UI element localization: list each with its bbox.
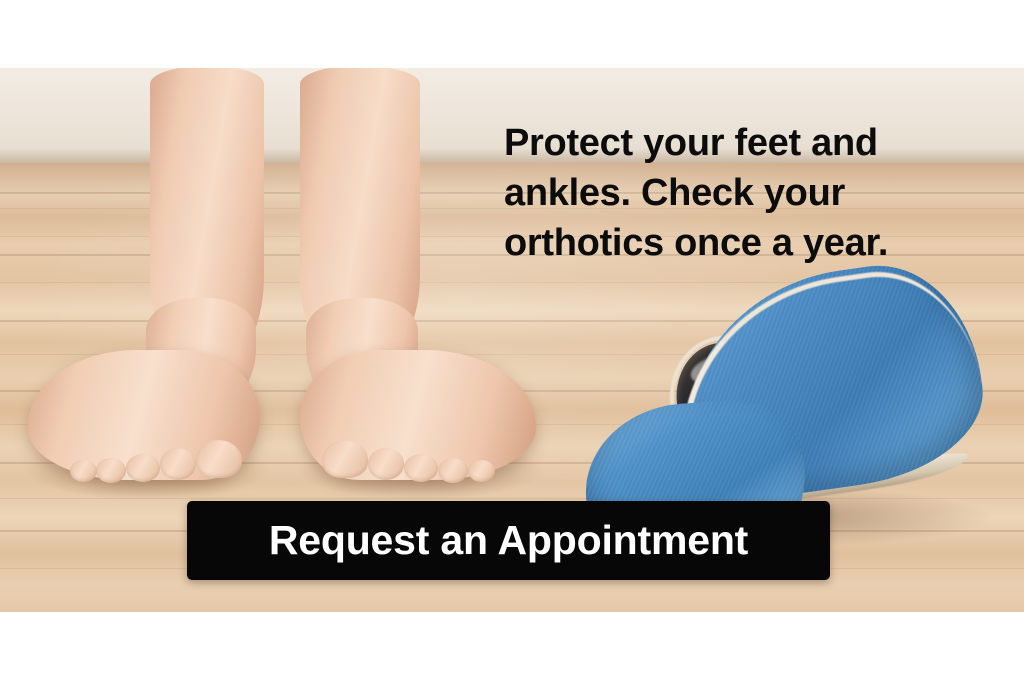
promo-banner-image: Protect your feet and ankles. Check your…: [0, 68, 1024, 612]
banner-headline: Protect your feet and ankles. Check your…: [504, 118, 954, 268]
request-an-appointment-button[interactable]: Request an Appointment: [187, 501, 830, 580]
banner-stage: Protect your feet and ankles. Check your…: [0, 0, 1024, 681]
